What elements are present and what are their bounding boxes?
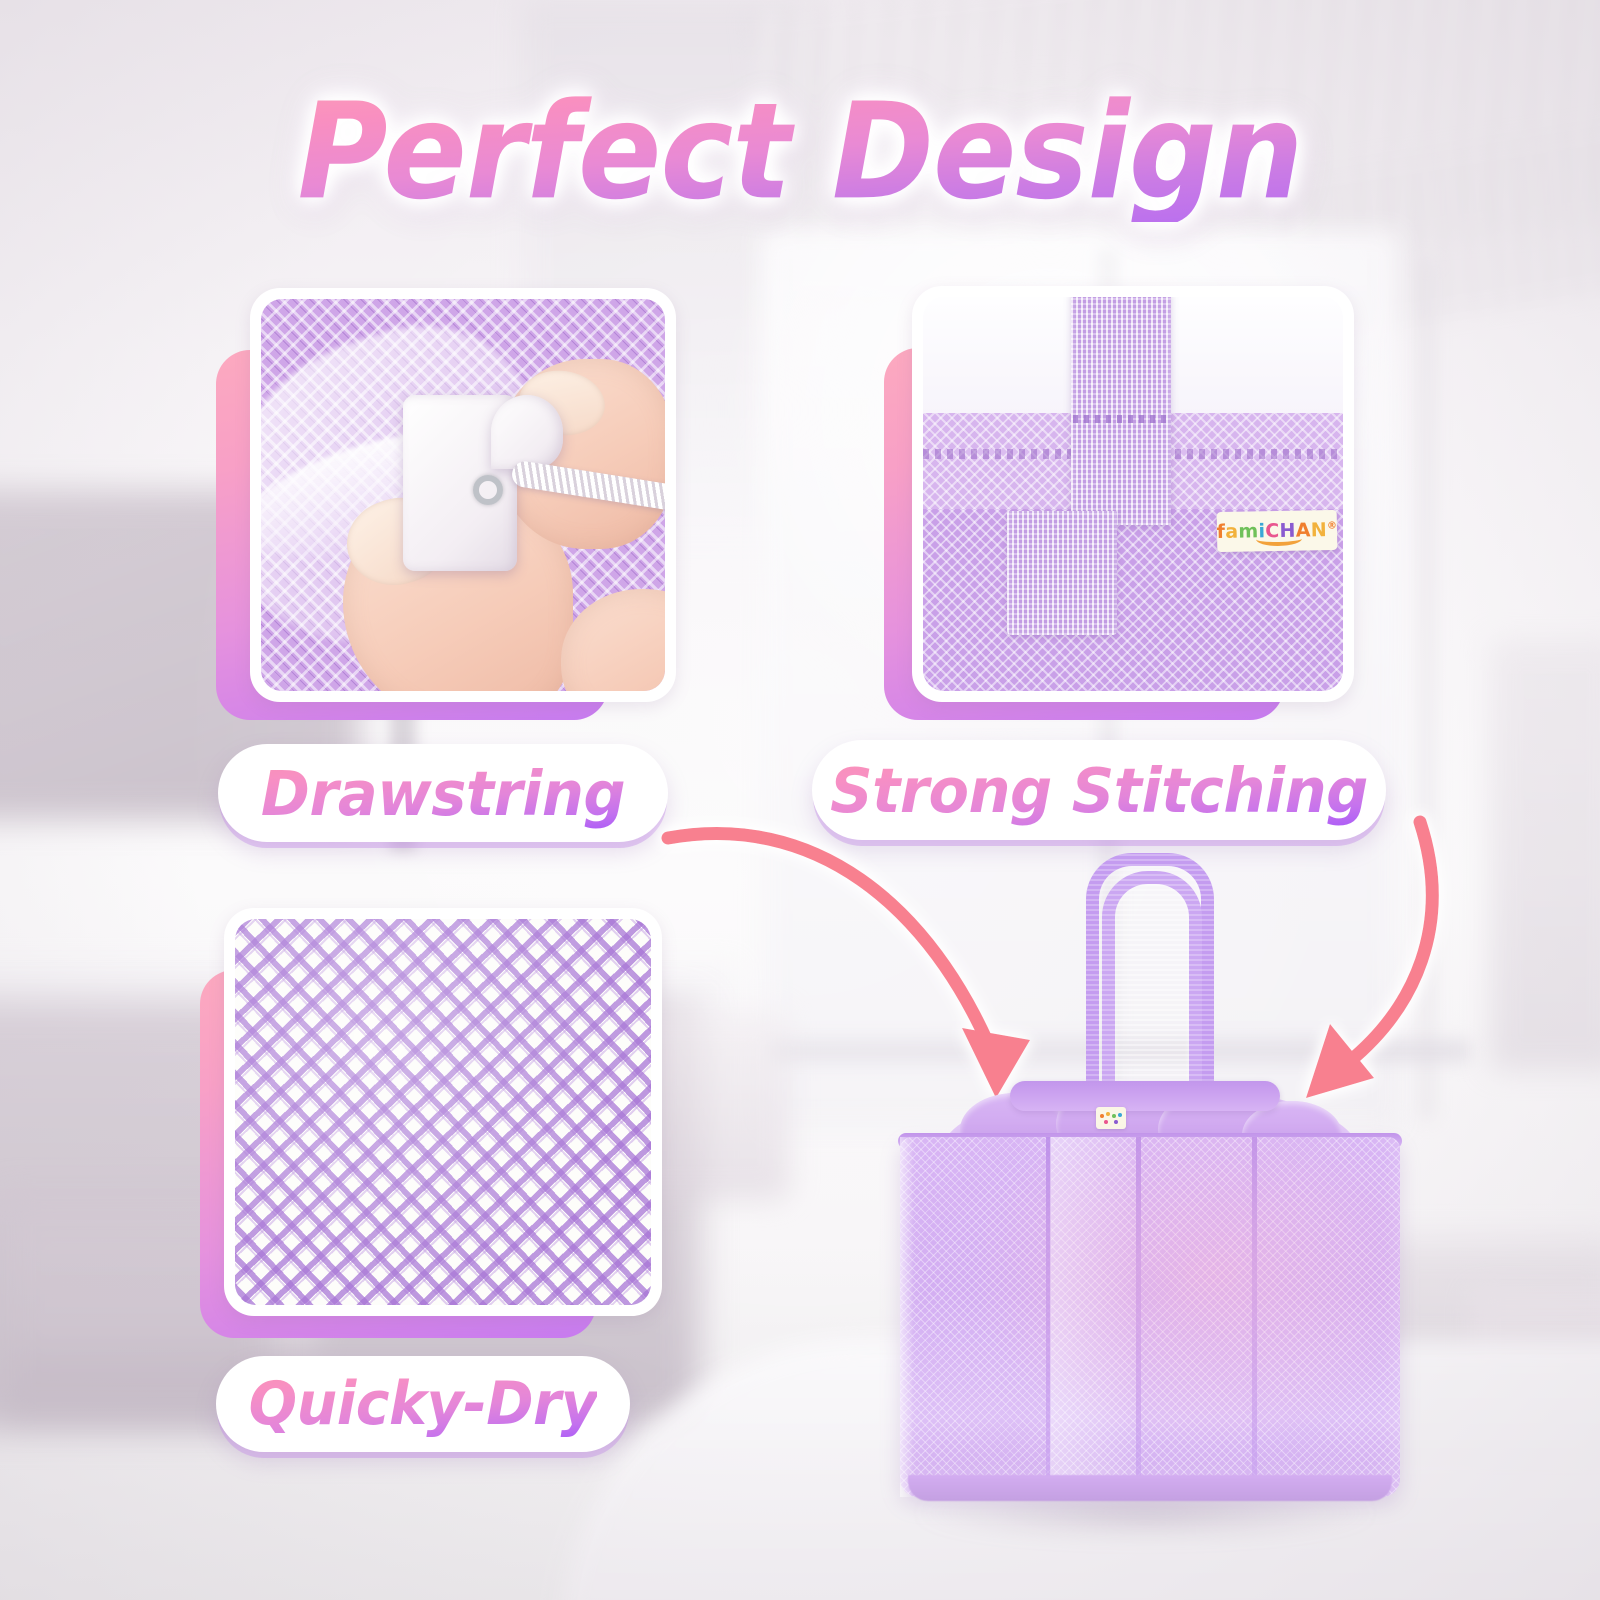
- cord-lock-cap: [491, 395, 563, 469]
- feature-card-strong-stitching[interactable]: famiCHAN®: [884, 286, 1354, 720]
- folded-webbing-tab: [1007, 511, 1117, 635]
- mesh-sheen: [235, 919, 651, 1305]
- vertical-webbing-strap: [1071, 297, 1171, 525]
- brand-smile-icon: [1256, 532, 1302, 547]
- feature-label-quicky-dry[interactable]: Quicky-Dry: [216, 1356, 630, 1452]
- feature-photo-drawstring: [250, 288, 676, 702]
- feature-label-drawstring[interactable]: Drawstring: [218, 744, 668, 842]
- feature-photo-quicky-dry: [224, 908, 662, 1316]
- bag-brand-tag: [1096, 1107, 1126, 1129]
- feature-card-drawstring[interactable]: [216, 288, 676, 720]
- bag-cinch-band: [1010, 1081, 1280, 1111]
- bag-pink-reflection: [900, 1137, 1400, 1497]
- feature-label-strong-stitching[interactable]: Strong Stitching: [812, 740, 1386, 840]
- strap-stitch-row: [1073, 415, 1169, 423]
- bag-bottom-edge: [908, 1475, 1392, 1501]
- cord-lock-metal-ring: [473, 475, 503, 505]
- feature-photo-strong-stitching: famiCHAN®: [912, 286, 1354, 702]
- brand-label-tag: famiCHAN®: [1217, 510, 1338, 552]
- bag-body: [900, 1137, 1400, 1497]
- product-image-mesh-tote-bag: [890, 845, 1410, 1545]
- feature-card-quicky-dry[interactable]: [200, 908, 662, 1338]
